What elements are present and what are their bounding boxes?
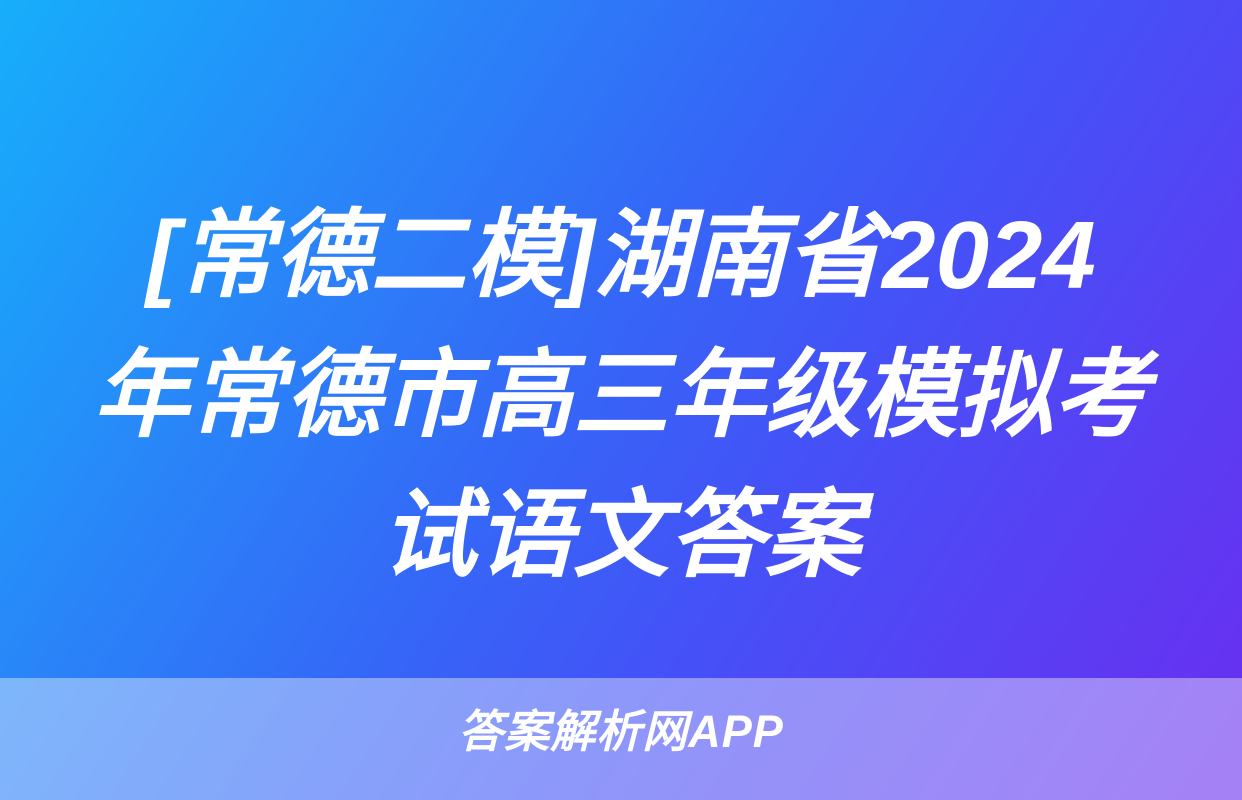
title-line-2: 年常德市高三年级模拟考 — [48, 326, 1194, 466]
title-line-3: 试语文答案 — [48, 466, 1194, 606]
poster-image: [常德二模]湖南省2024 年常德市高三年级模拟考 试语文答案 答案解析网APP — [0, 0, 1242, 800]
watermark-label: 答案解析网APP — [0, 706, 1242, 758]
title-line-1: [常德二模]湖南省2024 — [48, 186, 1194, 326]
page-title: [常德二模]湖南省2024 年常德市高三年级模拟考 试语文答案 — [0, 186, 1242, 606]
